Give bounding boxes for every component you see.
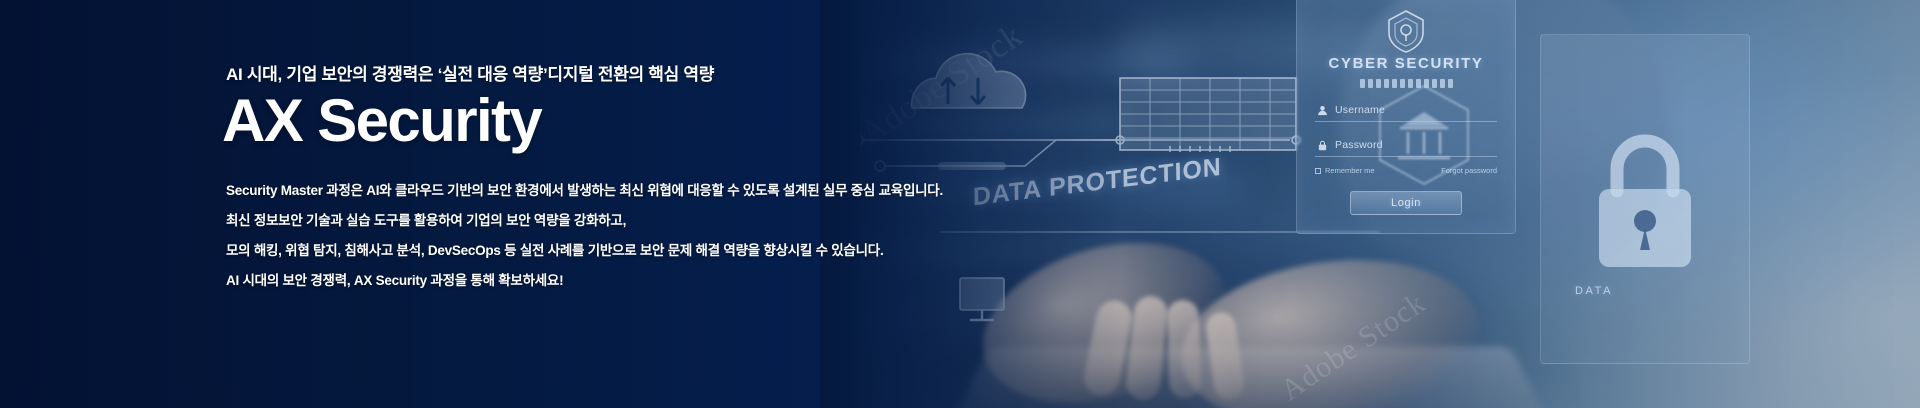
banner-description: Security Master 과정은 AI와 클라우드 기반의 보안 환경에서… — [226, 176, 943, 296]
banner-content: AI 시대, 기업 보안의 경쟁력은 ‘실전 대응 역량’디지털 전환의 핵심 … — [226, 0, 1126, 408]
page-title: AX Security — [222, 89, 541, 154]
description-line: AI 시대의 보안 경쟁력, AX Security 과정을 통해 확보하세요! — [226, 266, 943, 296]
banner-eyebrow: AI 시대, 기업 보안의 경쟁력은 ‘실전 대응 역량’디지털 전환의 핵심 … — [226, 60, 714, 85]
description-line: Security Master 과정은 AI와 클라우드 기반의 보안 환경에서… — [226, 176, 943, 206]
description-line: 모의 해킹, 위협 탐지, 침해사고 분석, DevSecOps 등 실전 사례… — [226, 236, 943, 266]
ax-security-banner: DATA PROTECTION CYBER SECURITY — [0, 0, 1920, 408]
description-line: 최신 정보보안 기술과 실습 도구를 활용하여 기업의 보안 역량을 강화하고, — [226, 206, 943, 236]
